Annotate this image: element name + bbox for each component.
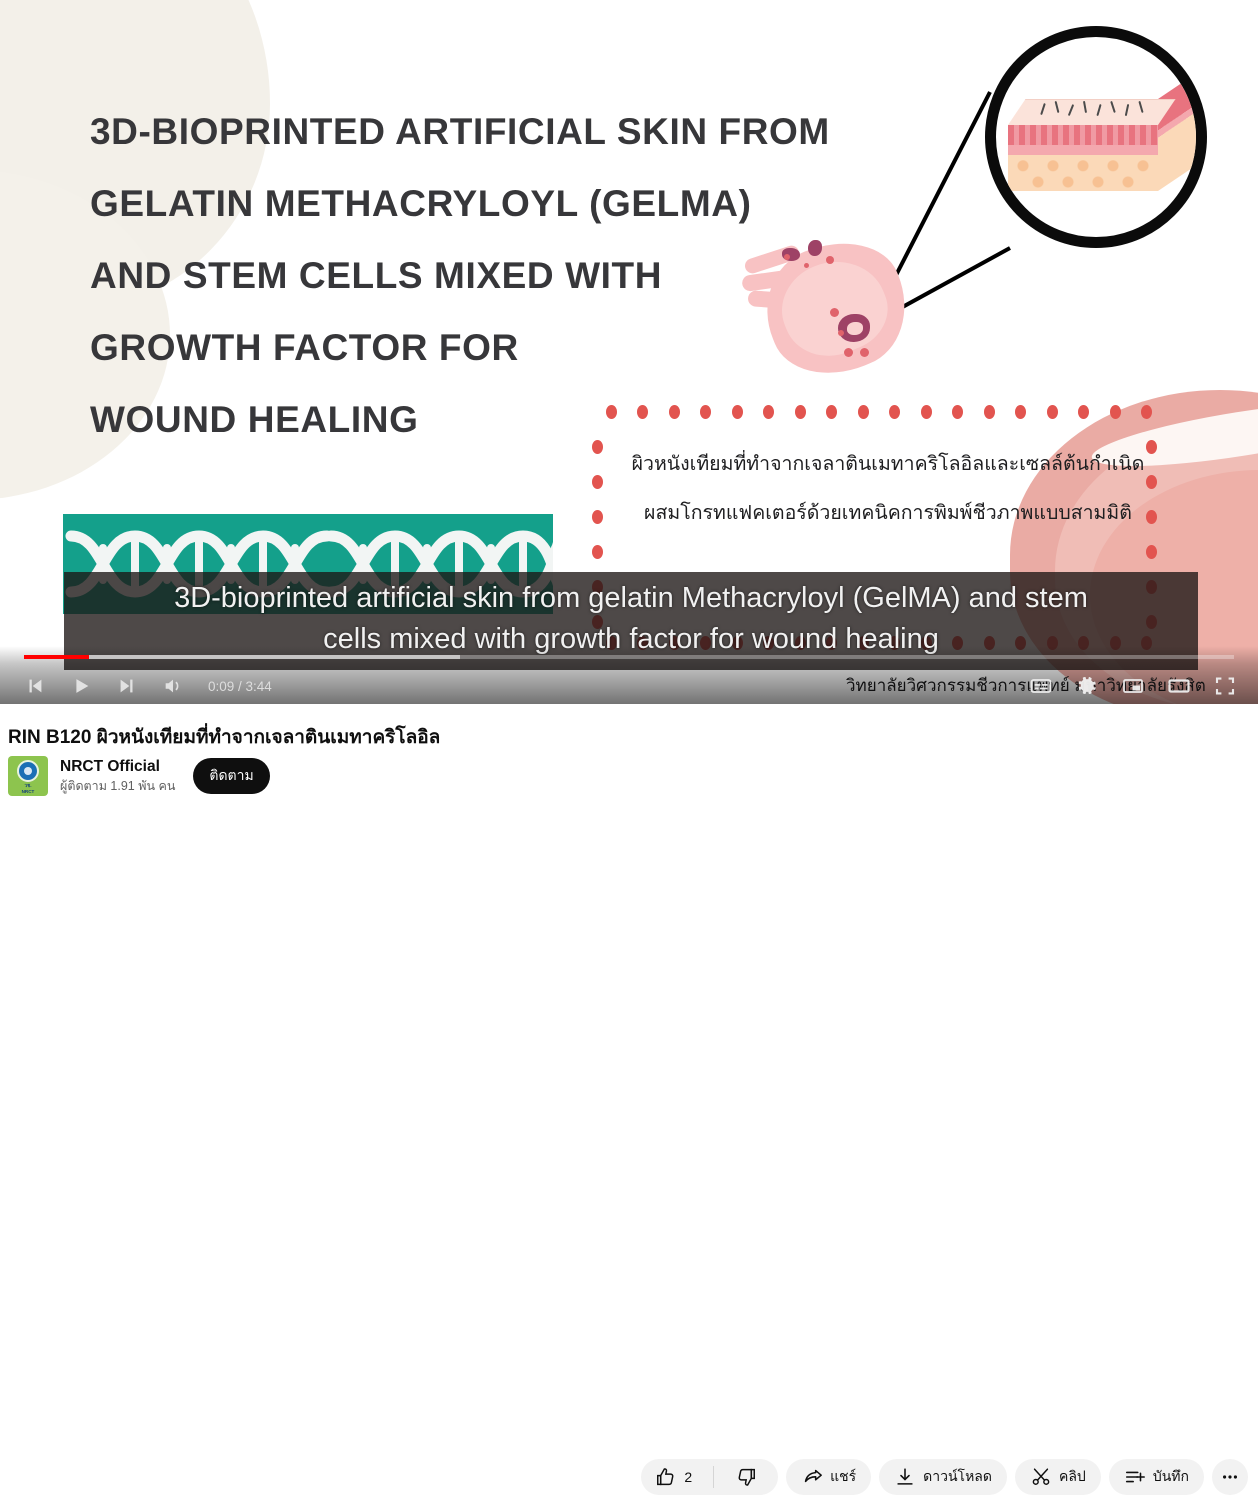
frame-dot — [826, 405, 837, 419]
frame-dot — [1141, 405, 1152, 419]
subtitles-icon[interactable] — [1018, 668, 1064, 704]
channel-owner-row: วช.NRCT NRCT Official ผู้ติดตาม 1.91 พัน… — [8, 756, 270, 796]
like-button[interactable]: 2 — [641, 1459, 706, 1495]
frame-dot — [889, 405, 900, 419]
frame-dot — [1047, 405, 1058, 419]
wounded-hand-icon — [742, 218, 932, 393]
skin-cross-section-icon — [1008, 99, 1184, 195]
like-count: 2 — [684, 1469, 692, 1485]
subscriber-count: ผู้ติดตาม 1.91 พัน คน — [60, 777, 175, 795]
player-control-bar[interactable]: 0:09 / 3:44 — [0, 646, 1258, 704]
caption-line-1: 3D-bioprinted artificial skin from gelat… — [64, 578, 1198, 619]
thai-line-2: ผสมโกรทแฟคเตอร์ด้วยเทคนิคการพิมพ์ชีวภาพแ… — [608, 489, 1168, 538]
magnifier-circle — [985, 26, 1207, 248]
video-player[interactable]: 3D-BIOPRINTED ARTIFICIAL SKIN FROM GELAT… — [0, 0, 1258, 704]
headline-line-1: 3D-BIOPRINTED ARTIFICIAL SKIN FROM — [90, 96, 970, 168]
progress-loaded — [24, 655, 460, 659]
previous-button[interactable] — [12, 668, 58, 704]
thai-line-1: ผิวหนังเทียมที่ทำจากเจลาตินเมทาคริโลอิลแ… — [608, 440, 1168, 489]
channel-name[interactable]: NRCT Official — [60, 757, 175, 777]
player-controls-right — [1018, 668, 1248, 704]
action-button-row: 2 แชร์ ดาวน์โหลด — [641, 1459, 1248, 1495]
download-button[interactable]: ดาวน์โหลด — [879, 1459, 1007, 1495]
frame-dot — [795, 405, 806, 419]
player-controls-left: 0:09 / 3:44 — [12, 668, 272, 704]
save-label: บันทึก — [1153, 1466, 1189, 1488]
more-options-button[interactable] — [1212, 1459, 1248, 1495]
video-meta-section: RIN B120 ผิวหนังเทียมที่ทำจากเจลาตินเมทา… — [0, 704, 1258, 802]
frame-dot — [984, 405, 995, 419]
miniplayer-icon[interactable] — [1110, 668, 1156, 704]
frame-dot — [921, 405, 932, 419]
slide-thai-text: ผิวหนังเทียมที่ทำจากเจลาตินเมทาคริโลอิลแ… — [608, 440, 1168, 538]
frame-dot — [952, 405, 963, 419]
fullscreen-icon[interactable] — [1202, 668, 1248, 704]
theater-mode-icon[interactable] — [1156, 668, 1202, 704]
dislike-button[interactable] — [721, 1459, 778, 1495]
share-label: แชร์ — [830, 1466, 856, 1488]
frame-dot — [763, 405, 774, 419]
like-dislike-group: 2 — [641, 1459, 778, 1495]
clip-button[interactable]: คลิป — [1015, 1459, 1101, 1495]
play-button[interactable] — [58, 668, 104, 704]
avatar[interactable]: วช.NRCT — [8, 756, 48, 796]
next-button[interactable] — [104, 668, 150, 704]
frame-dot — [1078, 405, 1089, 419]
frame-dot — [637, 405, 648, 419]
frame-dot — [592, 510, 603, 524]
divider — [713, 1466, 714, 1488]
frame-dot — [732, 405, 743, 419]
progress-bar[interactable] — [24, 655, 1234, 659]
volume-button[interactable] — [150, 668, 196, 704]
progress-played — [24, 655, 89, 659]
channel-info: NRCT Official ผู้ติดตาม 1.91 พัน คน — [60, 757, 175, 795]
frame-dot — [592, 475, 603, 489]
frame-dot — [858, 405, 869, 419]
frame-dot — [1146, 545, 1157, 559]
frame-dot — [1110, 405, 1121, 419]
download-label: ดาวน์โหลด — [923, 1466, 992, 1488]
gear-icon[interactable] — [1064, 668, 1110, 704]
frame-dot — [592, 440, 603, 454]
frame-dot — [606, 405, 617, 419]
frame-dot — [592, 545, 603, 559]
save-button[interactable]: บันทึก — [1109, 1459, 1204, 1495]
frame-dot — [1015, 405, 1026, 419]
time-display: 0:09 / 3:44 — [208, 679, 272, 694]
page-title: RIN B120 ผิวหนังเทียมที่ทำจากเจลาตินเมทา… — [8, 722, 440, 752]
avatar-label: วช.NRCT — [22, 783, 35, 794]
share-button[interactable]: แชร์ — [786, 1459, 871, 1495]
frame-dot — [669, 405, 680, 419]
subscribe-button[interactable]: ติดตาม — [193, 758, 269, 794]
frame-dot — [700, 405, 711, 419]
clip-label: คลิป — [1059, 1466, 1086, 1488]
avatar-emblem-icon — [17, 760, 39, 782]
